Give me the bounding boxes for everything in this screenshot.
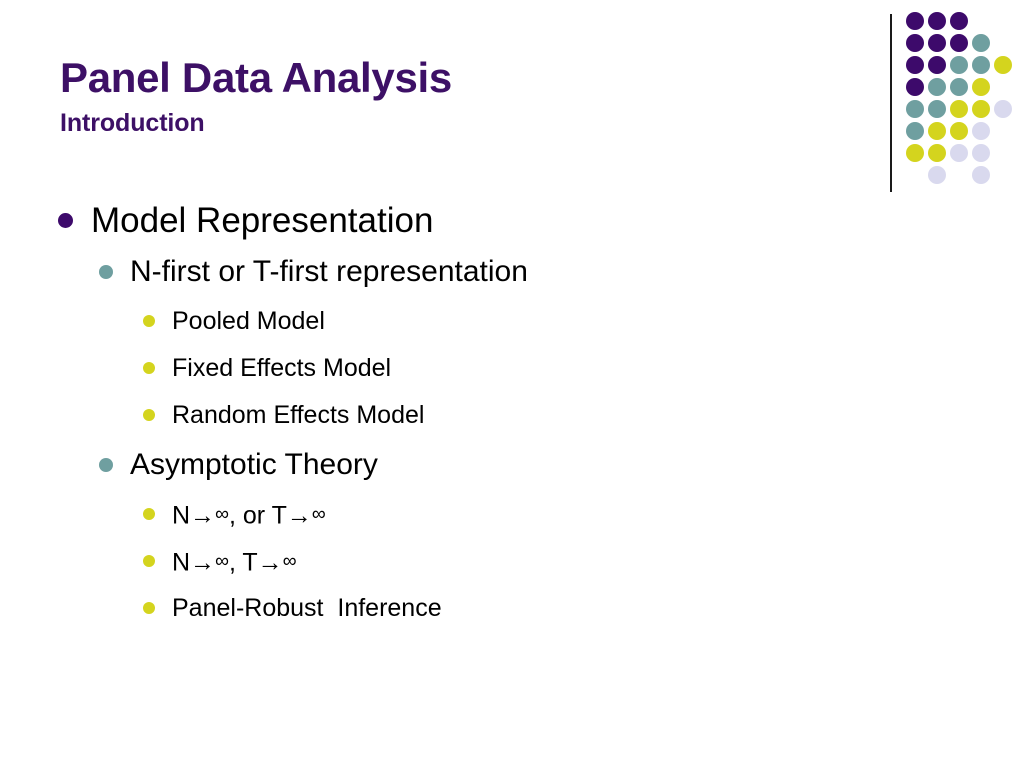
list-item: Asymptotic Theory bbox=[99, 443, 938, 495]
list-item-label: N→∞, T→∞ bbox=[172, 542, 297, 582]
bullet-dot-icon bbox=[143, 555, 155, 567]
bullet-dot-icon bbox=[58, 213, 73, 228]
logo-dot-yellow bbox=[928, 122, 946, 140]
list-item: Panel-Robust Inference bbox=[143, 589, 938, 636]
bullet-list: Model RepresentationN-first or T-first r… bbox=[58, 198, 938, 636]
logo-dot-yellow bbox=[950, 122, 968, 140]
list-item: N-first or T-first representation bbox=[99, 250, 938, 302]
logo-dot-purple bbox=[928, 56, 946, 74]
page-title: Panel Data Analysis bbox=[60, 56, 840, 100]
dot-matrix-logo bbox=[884, 8, 1024, 198]
logo-dot-purple bbox=[906, 12, 924, 30]
logo-vertical-rule bbox=[890, 14, 892, 192]
logo-dot-purple bbox=[950, 12, 968, 30]
title-block: Panel Data Analysis Introduction bbox=[60, 56, 840, 138]
bullet-dot-icon bbox=[143, 508, 155, 520]
logo-dot-teal bbox=[972, 56, 990, 74]
logo-dot-yellow bbox=[950, 100, 968, 118]
logo-dot-yellow bbox=[994, 56, 1012, 74]
logo-dot-lavender bbox=[928, 166, 946, 184]
list-item: N→∞, T→∞ bbox=[143, 542, 938, 589]
logo-dot-teal bbox=[950, 78, 968, 96]
logo-dot-teal bbox=[906, 122, 924, 140]
list-item-label: Asymptotic Theory bbox=[130, 443, 378, 487]
logo-dot-lavender bbox=[972, 144, 990, 162]
bullet-dot-icon bbox=[143, 409, 155, 421]
logo-dot-yellow bbox=[906, 144, 924, 162]
list-item-label: Fixed Effects Model bbox=[172, 349, 391, 387]
logo-dot-purple bbox=[906, 34, 924, 52]
list-item-label: N→∞, or T→∞ bbox=[172, 495, 326, 535]
page-subtitle: Introduction bbox=[60, 110, 840, 138]
list-item-label: Pooled Model bbox=[172, 302, 325, 340]
logo-dot-purple bbox=[950, 34, 968, 52]
logo-dot-lavender bbox=[950, 144, 968, 162]
logo-dot-teal bbox=[972, 34, 990, 52]
logo-dot-teal bbox=[950, 56, 968, 74]
logo-dot-yellow bbox=[928, 144, 946, 162]
logo-dot-lavender bbox=[994, 100, 1012, 118]
list-item: N→∞, or T→∞ bbox=[143, 495, 938, 542]
list-item: Model Representation bbox=[58, 198, 938, 250]
logo-dot-purple bbox=[906, 78, 924, 96]
bullet-dot-icon bbox=[143, 602, 155, 614]
logo-dot-purple bbox=[928, 34, 946, 52]
logo-dot-purple bbox=[928, 12, 946, 30]
bullet-dot-icon bbox=[143, 315, 155, 327]
bullet-dot-icon bbox=[99, 265, 113, 279]
list-item: Random Effects Model bbox=[143, 396, 938, 443]
bullet-dot-icon bbox=[99, 458, 113, 472]
list-item-label: Random Effects Model bbox=[172, 396, 424, 434]
logo-dot-lavender bbox=[972, 166, 990, 184]
list-item-label: Panel-Robust Inference bbox=[172, 589, 442, 627]
logo-dot-purple bbox=[906, 56, 924, 74]
logo-dot-teal bbox=[906, 100, 924, 118]
list-item-label: Model Representation bbox=[91, 198, 433, 244]
logo-dot-yellow bbox=[972, 78, 990, 96]
slide-canvas: Panel Data Analysis Introduction Model R… bbox=[0, 0, 1024, 768]
bullet-dot-icon bbox=[143, 362, 155, 374]
list-item: Pooled Model bbox=[143, 302, 938, 349]
logo-dot-teal bbox=[928, 78, 946, 96]
list-item: Fixed Effects Model bbox=[143, 349, 938, 396]
logo-dot-yellow bbox=[972, 100, 990, 118]
logo-dot-lavender bbox=[972, 122, 990, 140]
list-item-label: N-first or T-first representation bbox=[130, 250, 528, 294]
logo-dot-teal bbox=[928, 100, 946, 118]
